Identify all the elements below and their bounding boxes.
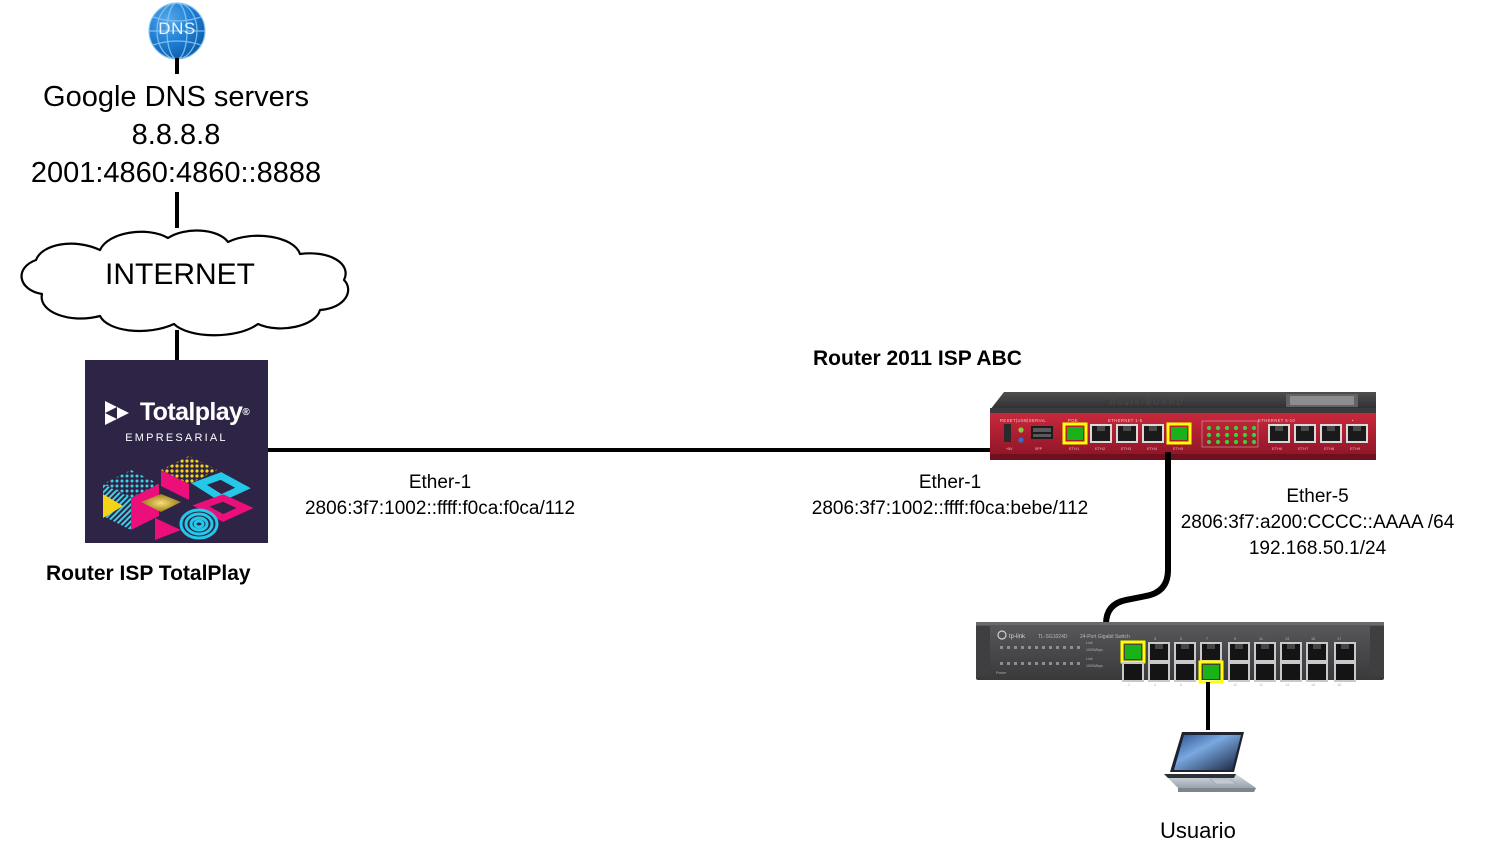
svg-text:ETH8: ETH8	[1324, 446, 1335, 451]
svg-text:1000Mbps: 1000Mbps	[1086, 648, 1103, 652]
link-switch-to-user	[1206, 682, 1210, 730]
svg-text:9: 9	[1234, 637, 1236, 641]
totalplay-subtitle: EMPRESARIAL	[85, 432, 268, 444]
svg-text:ETH2: ETH2	[1095, 446, 1106, 451]
dns-label-line2: 8.8.8.8	[0, 116, 352, 154]
svg-text:RouterBOARD: RouterBOARD	[1110, 398, 1184, 407]
svg-text:ETH1: ETH1	[1069, 446, 1080, 451]
dns-icon-text: DNS	[148, 19, 206, 39]
svg-text:tp-link: tp-link	[1009, 634, 1026, 640]
svg-text:ETH5: ETH5	[1173, 446, 1184, 451]
svg-text:POE: POE	[1068, 418, 1078, 423]
svg-text:•: •	[1352, 418, 1354, 423]
svg-text:5: 5	[1180, 637, 1182, 641]
link-label-mikrotik-side: Ether-1 2806:3f7:1002::ffff:f0ca:bebe/11…	[770, 470, 1130, 522]
link-label-isp-address: 2806:3f7:1002::ffff:f0ca:f0ca/112	[270, 496, 610, 522]
link-label-isp-side: Ether-1 2806:3f7:1002::ffff:f0ca:f0ca/11…	[270, 470, 610, 522]
laptop-icon	[1158, 728, 1262, 798]
svg-text:6: 6	[1180, 683, 1182, 686]
svg-text:11: 11	[1259, 637, 1263, 641]
svg-text:12: 12	[1259, 683, 1263, 686]
svg-text:Power: Power	[996, 671, 1007, 675]
user-label: Usuario	[1160, 818, 1236, 844]
svg-text:ETH6: ETH6	[1272, 446, 1283, 451]
svg-text:10: 10	[1233, 683, 1237, 686]
svg-text:RESET|USB|SERIAL: RESET|USB|SERIAL	[1000, 418, 1046, 423]
svg-text:ETH9: ETH9	[1350, 446, 1361, 451]
svg-text:SFP: SFP	[1035, 447, 1043, 451]
network-diagram-canvas: DNS Google DNS servers 8.8.8.8 2001:4860…	[0, 0, 1500, 849]
dns-stub-line	[175, 58, 179, 74]
svg-text:ETH4: ETH4	[1147, 446, 1158, 451]
svg-text:3: 3	[1154, 637, 1156, 641]
svg-text:18: 18	[1337, 683, 1341, 686]
switch-top-ports	[1122, 642, 1356, 662]
mikrotik-router-caption: Router 2011 ISP ABC	[813, 347, 1022, 371]
isp-router-totalplay: Totalplay ® EMPRESARIAL	[85, 360, 268, 543]
svg-text:Link: Link	[1086, 641, 1093, 645]
internet-to-isp-line	[175, 330, 179, 362]
svg-text:7: 7	[1206, 637, 1208, 641]
svg-text:ETH7: ETH7	[1298, 446, 1309, 451]
svg-text:1000Mbps: 1000Mbps	[1086, 664, 1103, 668]
svg-text:TL-SG1024D: TL-SG1024D	[1038, 634, 1068, 640]
svg-text:ETHERNET 6-10: ETHERNET 6-10	[1258, 418, 1296, 423]
svg-text:2: 2	[1128, 683, 1130, 686]
svg-text:15: 15	[1311, 637, 1315, 641]
tplink-switch-device: tp-link TL-SG1024D 24-Port Gigabit Switc…	[976, 618, 1384, 686]
svg-text:Link: Link	[1086, 657, 1093, 661]
isp-router-caption: Router ISP TotalPlay	[46, 562, 251, 586]
dns-label-line1: Google DNS servers	[0, 78, 352, 116]
svg-text:14: 14	[1285, 683, 1289, 686]
link-label-mikrotik-address: 2806:3f7:1002::ffff:f0ca:bebe/112	[770, 496, 1130, 522]
link-isp-to-mikrotik	[268, 448, 1074, 452]
svg-text:24-Port Gigabit Switch: 24-Port Gigabit Switch	[1080, 634, 1130, 640]
svg-text:ETH3: ETH3	[1121, 446, 1132, 451]
switch-bottom-ports	[1122, 662, 1356, 682]
totalplay-mark-icon	[104, 399, 134, 427]
totalplay-logo: Totalplay ®	[85, 398, 268, 427]
totalplay-artwork	[95, 454, 258, 542]
svg-text:13: 13	[1285, 637, 1289, 641]
svg-text:+5V: +5V	[1006, 447, 1013, 451]
dns-to-internet-line	[175, 192, 179, 228]
link-label-mikrotik-interface: Ether-1	[770, 470, 1130, 496]
totalplay-wordmark: Totalplay	[140, 398, 243, 427]
dns-globe-icon: DNS	[148, 2, 206, 60]
dns-label-line3: 2001:4860:4860::8888	[0, 154, 352, 192]
svg-text:ETHERNET 1-5: ETHERNET 1-5	[1108, 418, 1143, 423]
mikrotik-router-device: RouterBOARD RESET|USB|SERIAL POE ETHERNE…	[990, 388, 1376, 462]
svg-text:17: 17	[1337, 637, 1341, 641]
dns-label: Google DNS servers 8.8.8.8 2001:4860:486…	[0, 78, 352, 192]
link-mikrotik-to-switch	[1090, 452, 1220, 642]
internet-label: INTERNET	[10, 258, 350, 292]
link-label-isp-interface: Ether-1	[270, 470, 610, 496]
svg-text:4: 4	[1154, 683, 1156, 686]
totalplay-registered-mark: ®	[242, 407, 249, 418]
svg-text:16: 16	[1311, 683, 1315, 686]
